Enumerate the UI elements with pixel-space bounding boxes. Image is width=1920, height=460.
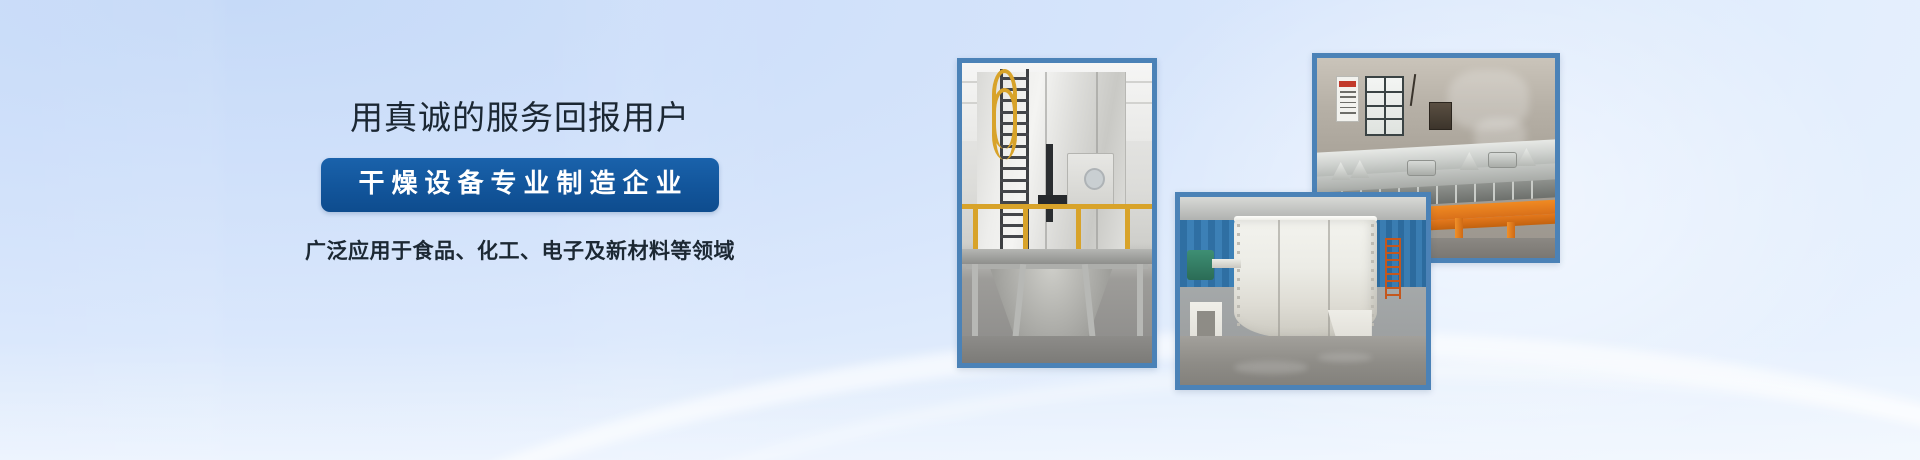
promo-banner: 用真诚的服务回报用户 干燥设备专业制造企业 广泛应用于食品、化工、电子及新材料等… — [0, 0, 1920, 460]
sign-text-line — [1340, 102, 1356, 104]
sign-header — [1339, 81, 1356, 86]
belt-tick — [1474, 184, 1476, 202]
work-platform — [962, 249, 1152, 264]
banner-headline: 用真诚的服务回报用户 — [240, 100, 800, 136]
floor — [962, 336, 1152, 363]
window-mullion — [1384, 78, 1386, 134]
banner-subline: 广泛应用于食品、化工、电子及新材料等领域 — [240, 235, 800, 265]
workshop-window — [1365, 76, 1405, 136]
access-door — [1488, 152, 1516, 168]
sign-text-line — [1340, 96, 1356, 98]
drive-shaft-coupling — [1212, 259, 1242, 268]
access-door — [1407, 160, 1435, 176]
photo-ribbon-mixer[interactable] — [1175, 192, 1431, 390]
tank-dark-panel — [1046, 144, 1054, 222]
decorative-swoosh-arc-secondary — [420, 362, 1920, 460]
belt-tick — [1531, 181, 1533, 199]
floor-mark — [1234, 361, 1308, 374]
orange-ladder — [1385, 238, 1401, 298]
handrail-post — [1023, 204, 1028, 252]
wall-notice-sign — [1336, 76, 1359, 122]
handrail-post — [1076, 204, 1081, 252]
ribbon-mixer-image — [1180, 197, 1426, 385]
spray-dryer-image — [962, 63, 1152, 363]
handrail-post — [1125, 204, 1130, 252]
drum-bolt-row — [1237, 224, 1240, 326]
control-box — [1429, 102, 1452, 130]
banner-slogan-pill: 干燥设备专业制造企业 — [321, 158, 718, 212]
ladder-rung — [1000, 190, 1029, 193]
platform-handrail — [962, 204, 1152, 209]
sign-text-line — [1340, 107, 1356, 109]
sign-text-line — [1340, 91, 1356, 93]
floor — [1180, 336, 1426, 385]
support-beam — [966, 264, 1148, 269]
ladder-rung — [1000, 167, 1029, 170]
handrail-post — [973, 204, 978, 252]
drum-seam — [1328, 220, 1330, 338]
ladder-safety-cage — [992, 88, 1017, 160]
drive-motor — [1187, 250, 1214, 280]
drum-seam — [1278, 220, 1280, 338]
banner-text-block: 用真诚的服务回报用户 干燥设备专业制造企业 广泛应用于食品、化工、电子及新材料等… — [240, 100, 800, 265]
sight-glass — [1084, 168, 1105, 190]
belt-tick — [1493, 183, 1495, 201]
belt-tick — [1436, 186, 1438, 204]
ladder-rung — [1000, 179, 1029, 182]
sign-text-line — [1340, 112, 1356, 114]
banner-slogan-label: 干燥设备专业制造企业 — [351, 169, 688, 199]
belt-tick — [1455, 185, 1457, 203]
photo-spray-dryer[interactable] — [957, 58, 1157, 368]
belt-tick — [1512, 182, 1514, 200]
